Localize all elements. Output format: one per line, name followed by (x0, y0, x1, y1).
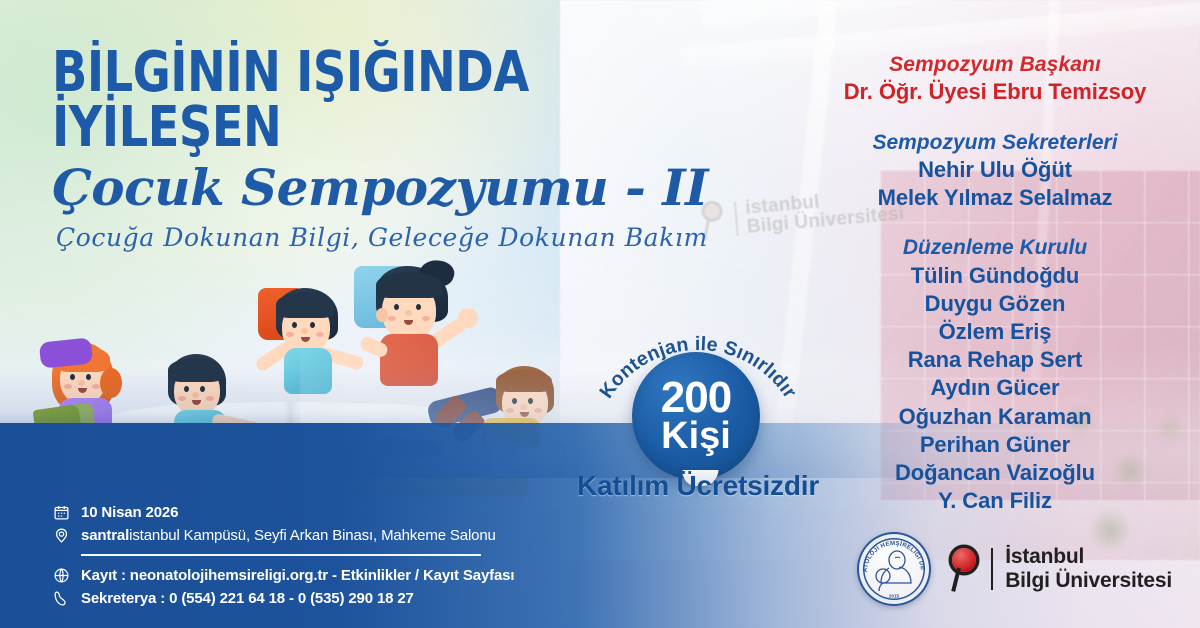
quota-unit: Kişi (661, 417, 731, 455)
globe-icon (52, 567, 70, 585)
organizing-member: Oğuzhan Karaman (830, 403, 1160, 431)
headline-block: BİLGİNİN IŞIĞINDA İYİLEŞEN Çocuk Sempozy… (52, 46, 732, 252)
event-poster: istanbul Bilgi Üniversitesi (0, 0, 1200, 628)
chair-name: Dr. Öğr. Üyesi Ebru Temizsoy (830, 78, 1160, 107)
bilgi-pin-icon (949, 546, 979, 592)
logo-divider (991, 548, 993, 590)
chair-title: Sempozyum Başkanı (830, 52, 1160, 78)
secretaries-title: Sempozyum Sekreterleri (830, 129, 1160, 156)
organizing-member: Aydın Gücer (830, 374, 1160, 402)
footer-date-row: 10 Nisan 2026 (52, 501, 612, 524)
footer-venue-row: santralistanbul Kampüsü, Seyfi Arkan Bin… (52, 524, 612, 547)
page-title: BİLGİNİN IŞIĞINDA İYİLEŞEN (52, 46, 678, 156)
neonatology-nursing-association-seal: NEONATOLOJİ HEMŞİRELİĞİ DERNEĞİ 2015 (857, 532, 931, 606)
page-subtitle: Çocuk Sempozyumu - II (52, 162, 732, 213)
footer-phone-row: Sekreterya : 0 (554) 221 64 18 - 0 (535)… (52, 587, 612, 610)
organizing-member: Rana Rehap Sert (830, 346, 1160, 374)
registration-info[interactable]: Kayıt : neonatolojihemsireligi.org.tr - … (81, 567, 514, 584)
committee-column: Sempozyum Başkanı Dr. Öğr. Üyesi Ebru Te… (830, 52, 1160, 515)
footer-divider (81, 554, 481, 556)
secretary-name: Melek Yılmaz Selalmaz (830, 184, 1160, 212)
university-name-line2: Bilgi Üniversitesi (1005, 569, 1172, 593)
free-participation-note: Katılım Ücretsizdir (573, 470, 823, 502)
organizing-member: Duygu Gözen (830, 290, 1160, 318)
phone-icon (52, 590, 70, 608)
svg-text:2015: 2015 (889, 594, 900, 599)
secretary-name: Nehir Ulu Öğüt (830, 156, 1160, 184)
secretariat-phones[interactable]: Sekreterya : 0 (554) 221 64 18 - 0 (535)… (81, 590, 414, 607)
event-venue: santralistanbul Kampüsü, Seyfi Arkan Bin… (81, 527, 496, 544)
quota-badge-circle: 200 Kişi (632, 352, 760, 480)
organizing-member: Doğancan Vaizoğlu (830, 459, 1160, 487)
footer-info: 10 Nisan 2026 santralistanbul Kampüsü, S… (52, 501, 612, 610)
organizing-member: Y. Can Filiz (830, 487, 1160, 515)
quota-count: 200 (661, 377, 731, 419)
event-date: 10 Nisan 2026 (81, 504, 178, 521)
university-name-line1: İstanbul (1005, 545, 1172, 569)
venue-detail: istanbul Kampüsü, Seyfi Arkan Binası, Ma… (129, 527, 496, 544)
organizing-member: Tülin Gündoğdu (830, 262, 1160, 290)
logo-row: NEONATOLOJİ HEMŞİRELİĞİ DERNEĞİ 2015 İst… (857, 532, 1172, 606)
istanbul-bilgi-university-logo: İstanbul Bilgi Üniversitesi (949, 545, 1172, 592)
tagline: Çocuğa Dokunan Bilgi, Geleceğe Dokunan B… (56, 223, 732, 252)
organizing-committee-title: Düzenleme Kurulu (830, 234, 1160, 261)
location-pin-icon (52, 527, 70, 545)
venue-campus: santral (81, 527, 129, 544)
organizing-member: Perihan Güner (830, 431, 1160, 459)
calendar-icon (52, 504, 70, 522)
footer-registration-row: Kayıt : neonatolojihemsireligi.org.tr - … (52, 564, 612, 587)
organizing-member: Özlem Eriş (830, 318, 1160, 346)
